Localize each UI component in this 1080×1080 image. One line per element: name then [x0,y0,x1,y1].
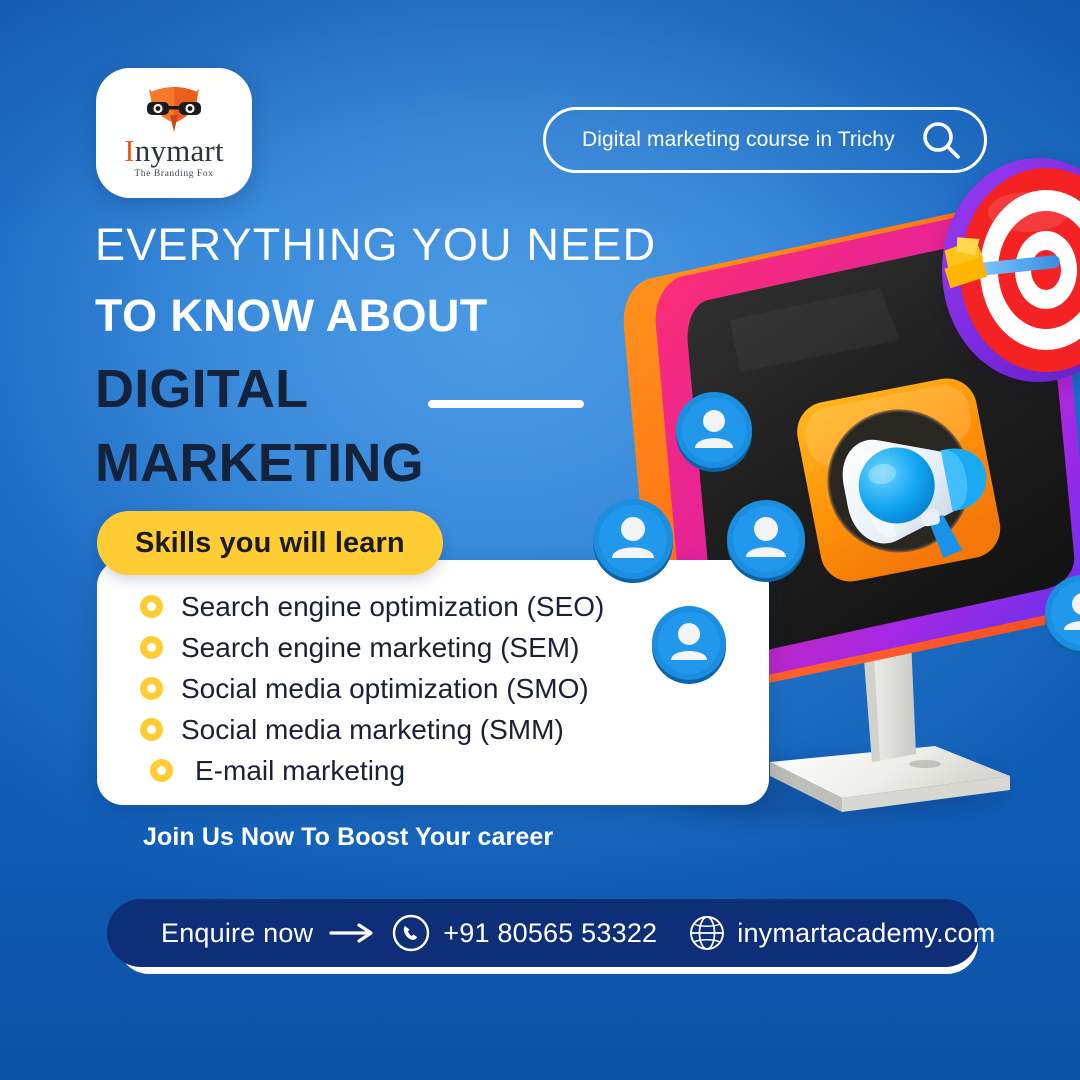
bullet-ring-icon [140,677,163,700]
phone-contact[interactable]: +91 80565 53322 [391,913,657,953]
list-item: Search engine optimization (SEO) [140,586,604,627]
arrow-right-icon [329,923,375,943]
fox-with-glasses-icon [141,87,207,133]
search-input[interactable]: Digital marketing course in Trichy [582,128,895,152]
skill-label: Search engine marketing (SEM) [181,632,579,664]
poster-canvas: Inymart The Branding Fox Digital marketi… [0,0,1080,1080]
phone-icon [391,913,431,953]
user-avatar-badge [1040,570,1080,661]
bullet-ring-icon [140,636,163,659]
brand-logo[interactable]: Inymart The Branding Fox [96,68,252,198]
headline-line-1: EVERYTHING YOU NEED [95,222,656,267]
headline-line-2: TO KNOW ABOUT [95,293,656,338]
logo-wordmark: Inymart [124,135,224,166]
user-avatar-badge [588,495,678,590]
headline-line-4: MARKETING [95,436,656,490]
skill-label: Search engine optimization (SEO) [181,591,604,623]
bullet-ring-icon [150,759,173,782]
list-item: Social media optimization (SMO) [140,668,604,709]
logo-tagline: The Branding Fox [134,169,213,179]
contact-bar[interactable]: Enquire now +91 80565 53322 inymartacade… [107,899,979,967]
user-avatar-badge [672,390,756,479]
search-icon[interactable] [920,119,962,161]
list-item: Search engine marketing (SEM) [140,627,604,668]
website-url[interactable]: inymartacademy.com [737,918,995,949]
search-bar[interactable]: Digital marketing course in Trichy [543,107,987,173]
user-avatar-badge [722,495,810,588]
bullet-ring-icon [140,718,163,741]
skills-header-pill: Skills you will learn [97,511,443,575]
enquire-now-label[interactable]: Enquire now [161,918,313,949]
skills-header-label: Skills you will learn [135,527,405,560]
list-item: E-mail marketing [140,750,604,791]
join-cta-text: Join Us Now To Boost Your career [143,823,553,852]
headline-underline-bar [428,400,584,408]
phone-number[interactable]: +91 80565 53322 [443,918,657,949]
user-avatar-badge [648,602,730,689]
skill-label: E-mail marketing [195,755,405,787]
skill-label: Social media optimization (SMO) [181,673,589,705]
list-item: Social media marketing (SMM) [140,709,604,750]
page-title: EVERYTHING YOU NEED TO KNOW ABOUT DIGITA… [95,222,656,490]
globe-icon [687,913,727,953]
skills-list: Search engine optimization (SEO) Search … [140,586,604,791]
website-contact[interactable]: inymartacademy.com [657,913,995,953]
bullet-ring-icon [140,595,163,618]
skill-label: Social media marketing (SMM) [181,714,564,746]
